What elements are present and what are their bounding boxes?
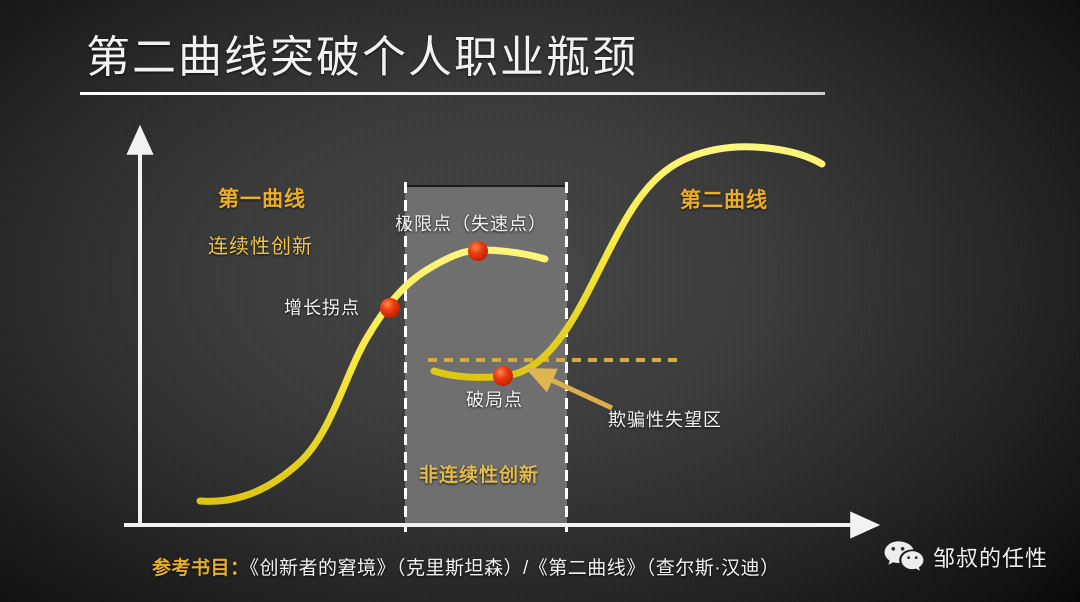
reference-books-footer: 参考书目：《创新者的窘境》（克里斯坦森）/《第二曲线》（查尔斯·汉迪） <box>152 553 780 580</box>
label-second-curve: 第二曲线 <box>680 190 768 211</box>
wechat-icon <box>884 540 924 574</box>
slide-canvas: 第二曲线突破个人职业瓶颈 <box>0 0 1080 602</box>
label-despair-zone: 欺骗性失望区 <box>608 411 722 429</box>
label-break-point: 破局点 <box>466 391 523 409</box>
label-first-curve: 第一曲线 <box>218 189 306 210</box>
limit-point-marker <box>468 241 488 261</box>
second-curve-chart <box>0 0 1080 602</box>
watermark-account-name: 邹叔的任性 <box>933 541 1048 573</box>
wechat-watermark: 邹叔的任性 <box>884 540 1048 574</box>
growth-inflection-marker <box>380 298 400 318</box>
label-growth-inflection-point: 增长拐点 <box>284 299 360 317</box>
label-continuous-innovation: 连续性创新 <box>208 237 313 257</box>
break-point-marker <box>493 366 513 386</box>
footer-key: 参考书目： <box>152 558 250 579</box>
footer-value: 《创新者的窘境》（克里斯坦森）/《第二曲线》（查尔斯·汉迪） <box>250 558 780 579</box>
label-discontinuous-innovation: 非连续性创新 <box>419 466 539 485</box>
label-limit-point: 极限点（失速点） <box>395 215 547 233</box>
